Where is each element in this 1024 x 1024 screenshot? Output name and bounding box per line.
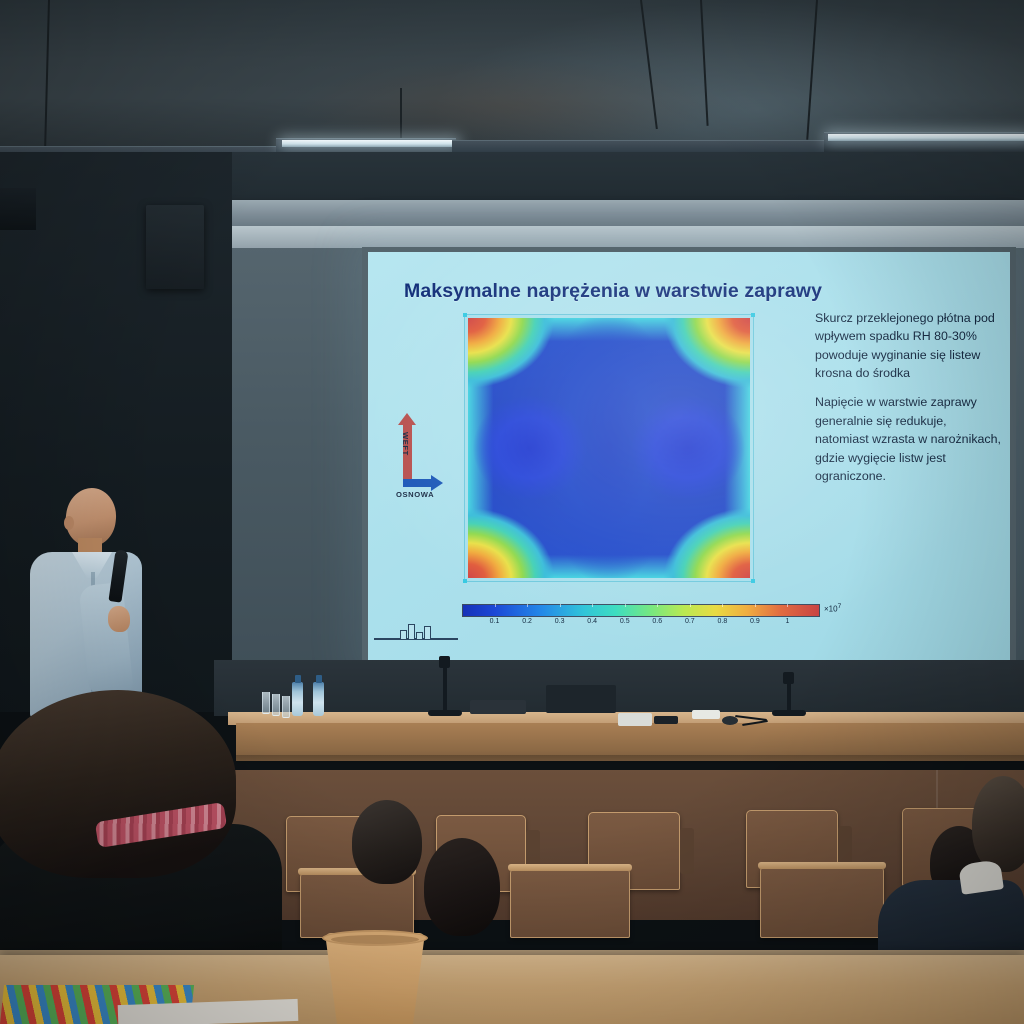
foreground-person-hair [0, 690, 236, 878]
colorbar-tick [755, 604, 756, 607]
wall-cornice-lower [214, 226, 1024, 248]
slide-paragraph-1: Skurcz przeklejonego płótna pod wpływem … [815, 309, 1001, 382]
audience-person-head [972, 776, 1024, 872]
seat[interactable] [510, 868, 630, 938]
colorbar-tick [592, 604, 593, 607]
institution-logo [374, 616, 458, 642]
water-bottle [313, 682, 324, 716]
colorbar: 0.10.20.30.40.50.60.70.80.91 ×107 [462, 604, 902, 638]
desk-shadow [236, 755, 1024, 765]
seat-top-edge [508, 864, 632, 871]
ceiling-light-2 [282, 140, 456, 147]
ceiling-speaker [146, 205, 204, 289]
colorbar-multiplier-exponent: 7 [838, 603, 842, 610]
drinking-glass [282, 696, 290, 718]
microphone-head-icon [439, 656, 450, 668]
stage-back-wall [214, 660, 1024, 716]
slide-body-text: Skurcz przeklejonego płótna pod wpływem … [815, 309, 1001, 496]
colorbar-tick [625, 604, 626, 607]
desk-device [654, 716, 678, 724]
corner-marker [463, 313, 467, 317]
osnowa-arrow-icon [403, 479, 431, 487]
colorbar-tick-label: 0.4 [587, 618, 597, 625]
heatmap-field [468, 318, 750, 578]
audience-person-head [424, 838, 500, 936]
audience-person-head [352, 800, 422, 884]
logo-bar [408, 624, 415, 639]
desk-papers [618, 713, 652, 726]
presenter [22, 488, 162, 718]
colorbar-tick-labels: 0.10.20.30.40.50.60.70.80.91 [462, 618, 820, 630]
presentation-slide: Maksymalne naprężenia w warstwie zaprawy… [368, 252, 1010, 660]
microphone-head-icon [783, 672, 794, 684]
weft-label: WEFT [401, 432, 410, 456]
corner-marker [463, 579, 467, 583]
drinking-glass [262, 692, 270, 714]
plot-frame [464, 314, 754, 582]
colorbar-ticks [462, 604, 820, 617]
microphone-stand-base [772, 710, 806, 716]
stress-heatmap-figure [464, 314, 754, 582]
colorbar-tick [560, 604, 561, 607]
logo-bar [424, 626, 431, 639]
colorbar-tick-label: 0.5 [620, 618, 630, 625]
colorbar-tick-label: 1 [786, 618, 790, 625]
colorbar-tick-label: 0.6 [652, 618, 662, 625]
colorbar-multiplier-base: ×10 [824, 605, 838, 614]
presenter-ear [64, 516, 74, 530]
paper-coffee-cup[interactable] [325, 933, 425, 1024]
microphone-stand-base [428, 710, 462, 716]
wall-vent [0, 188, 36, 230]
colorbar-tick-label: 0.8 [717, 618, 727, 625]
colorbar-tick [527, 604, 528, 607]
colorbar-tick [495, 604, 496, 607]
cup-interior [331, 935, 419, 944]
water-bottle [292, 682, 303, 716]
colorbar-tick [787, 604, 788, 607]
desk-paper [692, 710, 720, 719]
laptop [470, 700, 526, 714]
fabric-direction-indicator: WEFT OSNOWA [390, 424, 452, 502]
colorbar-tick [690, 604, 691, 607]
lecture-hall-scene: Maksymalne naprężenia w warstwie zaprawy… [0, 0, 1024, 1024]
corner-marker [751, 313, 755, 317]
ceiling-stain [300, 60, 720, 150]
colorbar-tick-label: 0.2 [522, 618, 532, 625]
seat-top-edge [758, 862, 886, 869]
drinking-glass [272, 694, 280, 716]
slide-paragraph-2: Napięcie w warstwie zaprawy generalnie s… [815, 393, 1001, 485]
desk-puck [722, 716, 738, 725]
colorbar-tick-label: 0.3 [555, 618, 565, 625]
colorbar-tick [657, 604, 658, 607]
logo-bar [416, 632, 423, 639]
osnowa-label: OSNOWA [396, 490, 434, 499]
colorbar-tick [722, 604, 723, 607]
logo-bar [400, 630, 407, 639]
colorbar-tick-label: 0.7 [685, 618, 695, 625]
colorbar-tick-label: 0.1 [490, 618, 500, 625]
armrest [680, 828, 694, 874]
seat[interactable] [760, 866, 884, 938]
ceiling-light-4 [828, 134, 1024, 141]
colorbar-multiplier: ×107 [824, 603, 841, 614]
monitor [546, 685, 616, 713]
page-title: Maksymalne naprężenia w warstwie zaprawy [404, 280, 964, 303]
colorbar-tick-label: 0.9 [750, 618, 760, 625]
microphone-stand [443, 662, 447, 714]
corner-marker [751, 579, 755, 583]
presenter-hand [108, 606, 130, 632]
